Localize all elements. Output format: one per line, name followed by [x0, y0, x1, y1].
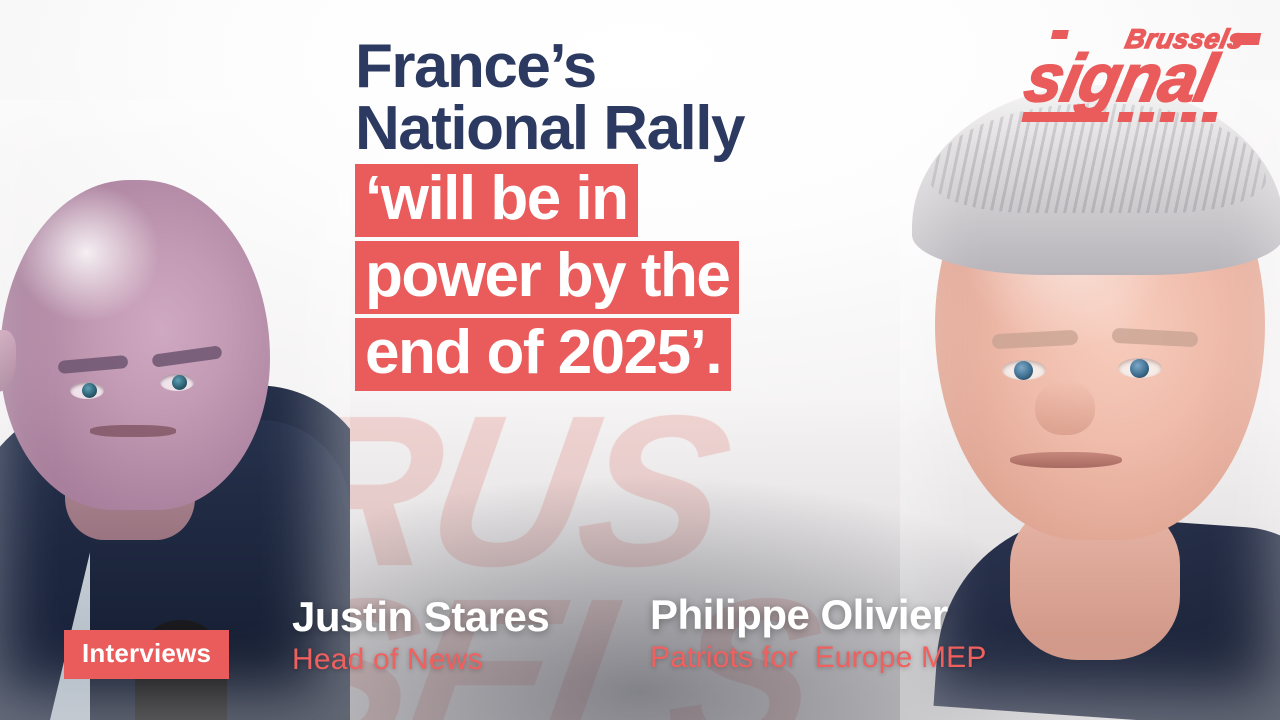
logo-underbar-icon	[1021, 112, 1109, 122]
left-mouth	[90, 425, 176, 437]
left-iris-2	[172, 375, 187, 390]
right-iris-1	[1014, 361, 1033, 380]
person-credit-left: Justin Stares Head of News	[292, 596, 549, 678]
headline-quote-block: ‘will be in power by the end of 2025’.	[355, 164, 955, 395]
category-badge[interactable]: Interviews	[64, 630, 229, 679]
headline-highlight-line-3: end of 2025’.	[355, 318, 731, 391]
thumbnail-canvas: BRUS SSELS	[0, 0, 1280, 720]
headline-highlight-line-2: power by the	[355, 241, 739, 314]
logo-word-signal: signal	[1019, 45, 1221, 112]
logo-dot-1-icon	[1117, 112, 1133, 122]
person-right-name: Philippe Olivier	[650, 594, 987, 637]
logo-dot-4-icon	[1180, 112, 1196, 122]
headline-highlight-line-1: ‘will be in	[355, 164, 638, 237]
logo-dot-2-icon	[1138, 112, 1154, 122]
brussels-signal-logo[interactable]: Brussels signal	[1016, 24, 1253, 129]
headline: France’s National Rally ‘will be in powe…	[355, 36, 955, 395]
right-nose	[1035, 380, 1095, 435]
headline-line-1: France’s	[355, 36, 955, 98]
logo-dash-top-right-icon	[1233, 33, 1262, 45]
logo-dot-3-icon	[1159, 112, 1175, 122]
headline-line-2: National Rally	[355, 98, 955, 160]
right-iris-2	[1130, 359, 1149, 378]
left-iris-1	[82, 383, 97, 398]
right-mouth	[1010, 452, 1122, 468]
person-left-name: Justin Stares	[292, 596, 549, 639]
logo-dash-top-left-icon	[1051, 30, 1069, 39]
logo-dot-5-icon	[1201, 112, 1217, 122]
person-credit-right: Philippe Olivier Patriots for Europe MEP	[650, 594, 987, 676]
left-head	[0, 180, 270, 510]
person-left-role: Head of News	[292, 641, 549, 679]
person-right-role: Patriots for Europe MEP	[650, 639, 987, 677]
